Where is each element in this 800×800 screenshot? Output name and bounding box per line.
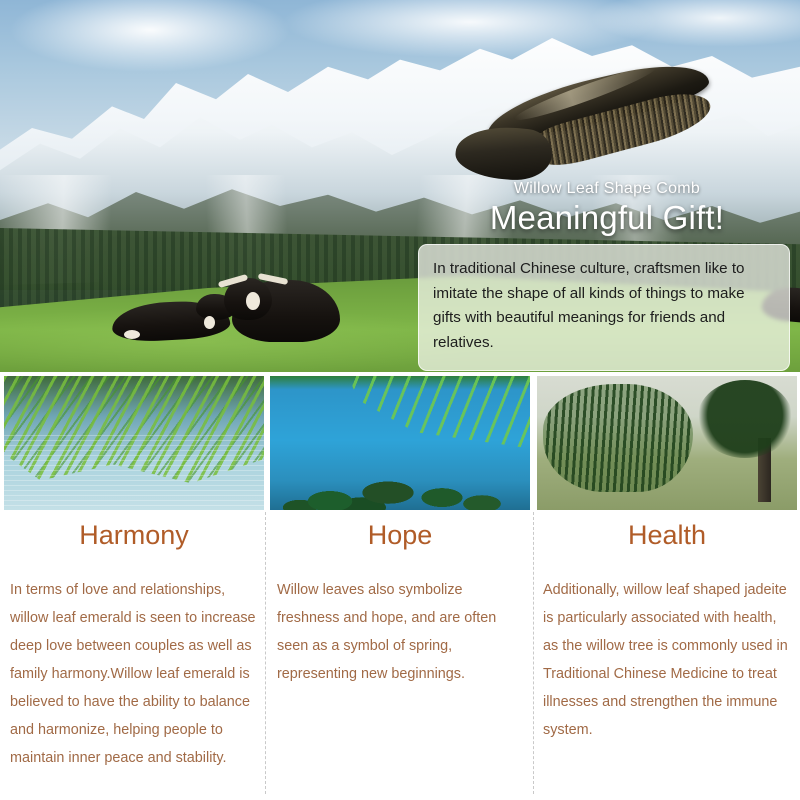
column-image-lily-lake (270, 376, 530, 510)
column-divider-2 (533, 512, 534, 794)
column-health: Health Additionally, willow leaf shaped … (537, 376, 797, 744)
hero-caption-panel: In traditional Chinese culture, craftsme… (418, 244, 790, 371)
column-heading-health: Health (537, 512, 797, 553)
column-divider-1 (265, 512, 266, 794)
page-title: Meaningful Gift! (420, 199, 794, 237)
hero-kicker: Willow Leaf Shape Comb (420, 180, 794, 198)
column-body-hope: Willow leaves also symbolize freshness a… (270, 576, 530, 688)
cow-face-marking-icon (246, 292, 260, 310)
product-infographic-page: Willow Leaf Shape Comb Meaningful Gift! … (0, 0, 800, 800)
tree-trunk-icon (758, 438, 771, 502)
column-heading-harmony: Harmony (4, 512, 264, 553)
benefits-columns: Harmony In terms of love and relationshi… (0, 376, 800, 800)
hero-banner: Willow Leaf Shape Comb Meaningful Gift! … (0, 0, 800, 372)
column-heading-hope: Hope (270, 512, 530, 553)
column-body-harmony: In terms of love and relationships, will… (4, 576, 264, 773)
column-body-health: Additionally, willow leaf shaped jadeite… (537, 576, 797, 744)
column-image-willow-tree (537, 376, 797, 510)
column-image-willow-water (4, 376, 264, 510)
column-hope: Hope Willow leaves also symbolize freshn… (270, 376, 530, 688)
cow-body-marking-2-icon (204, 316, 215, 329)
cow-body-marking-icon (124, 330, 140, 339)
column-harmony: Harmony In terms of love and relationshi… (4, 376, 264, 772)
